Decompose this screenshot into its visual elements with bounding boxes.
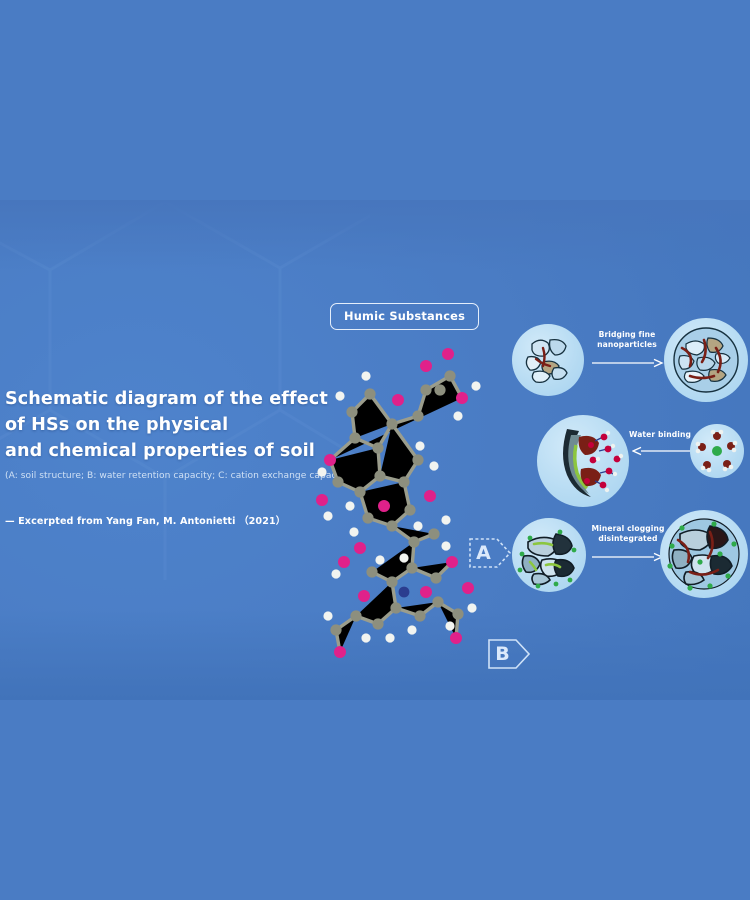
panel-a-flow-arrow: [592, 358, 664, 368]
panel-tag-a: A: [468, 533, 512, 573]
panel-tag-b: B: [487, 634, 531, 674]
panel-tag-a-letter: A: [468, 533, 499, 573]
panel-b-flow-label: Water binding: [620, 430, 700, 440]
panel-c-left-circle: [512, 518, 586, 592]
page-title-line-2: of HSs on the physical: [5, 412, 345, 438]
panel-c-right-circle: [660, 510, 748, 598]
panel-tag-b-letter: B: [487, 634, 518, 674]
title-block: Schematic diagram of the effect of HSs o…: [5, 386, 345, 527]
panel-a-right-circle: [664, 318, 748, 402]
schematic-banner: Schematic diagram of the effect of HSs o…: [0, 200, 750, 700]
page-background: Schematic diagram of the effect of HSs o…: [0, 0, 750, 900]
panel-b-left-circle: [537, 415, 629, 507]
panel-a-flow-label: Bridging fine nanoparticles: [588, 330, 666, 350]
panel-b-right-circle: [690, 424, 744, 478]
panel-c-flow-label: Mineral clogging disintegrated: [586, 524, 670, 544]
humic-substance-molecule: [300, 320, 500, 680]
panel-b-flow-arrow: [632, 446, 690, 456]
page-title-line-1: Schematic diagram of the effect: [5, 386, 345, 412]
panel-c-flow-arrow: [592, 552, 664, 562]
subtitle-legend: (A: soil structure; B: water retention c…: [5, 470, 345, 483]
page-title-line-3: and chemical properties of soil: [5, 438, 345, 464]
panel-a-left-circle: [512, 324, 584, 396]
citation-source: — Excerpted from Yang Fan, M. Antonietti…: [5, 513, 345, 527]
